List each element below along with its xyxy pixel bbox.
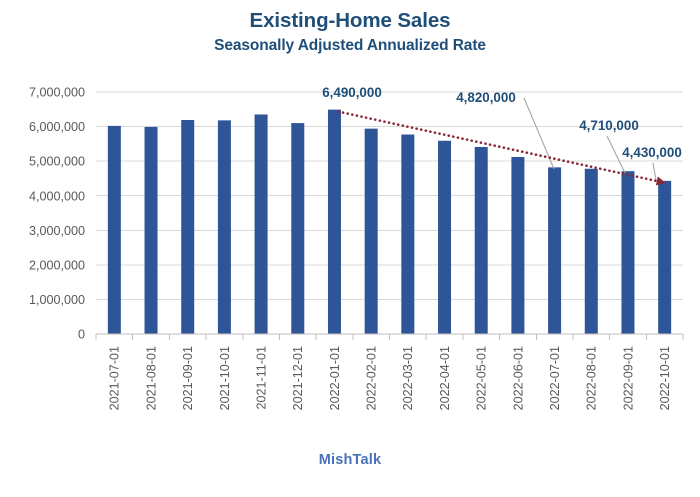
data-label-2022-10-01: 4,430,000: [622, 145, 682, 160]
xtick-label-2022-03-01: 2022-03-01: [401, 346, 415, 410]
ytick-label: 7,000,000: [29, 86, 85, 100]
bar-2022-06-01[interactable]: [511, 157, 524, 334]
data-label-2022-09-01: 4,710,000: [579, 118, 639, 133]
bar-2021-07-01[interactable]: [108, 126, 121, 334]
bar-2022-07-01[interactable]: [548, 167, 561, 334]
xtick-label-2021-09-01: 2021-09-01: [181, 346, 195, 410]
bar-2021-11-01[interactable]: [255, 114, 268, 334]
xtick-label-2022-06-01: 2022-06-01: [511, 346, 525, 410]
bar-2022-08-01[interactable]: [585, 169, 598, 334]
chart-container: Existing-Home Sales Seasonally Adjusted …: [0, 0, 700, 497]
ytick-label: 3,000,000: [29, 224, 85, 238]
xtick-label-2022-01-01: 2022-01-01: [328, 346, 342, 410]
ytick-label: 0: [78, 328, 85, 342]
bar-2021-12-01[interactable]: [291, 123, 304, 334]
ytick-label: 2,000,000: [29, 258, 85, 272]
xtick-label-2022-10-01: 2022-10-01: [658, 346, 672, 410]
bar-2022-10-01[interactable]: [658, 181, 671, 334]
xtick-label-2022-09-01: 2022-09-01: [621, 346, 635, 410]
xtick-label-2022-02-01: 2022-02-01: [365, 346, 379, 410]
xtick-label-2022-07-01: 2022-07-01: [548, 346, 562, 410]
data-label-2022-07-01: 4,820,000: [456, 90, 516, 105]
xtick-label-2021-11-01: 2021-11-01: [254, 346, 268, 410]
ytick-labels-group: 7,000,0006,000,0005,000,0004,000,0003,00…: [29, 86, 85, 342]
xtick-label-2022-05-01: 2022-05-01: [475, 346, 489, 410]
bar-2022-02-01[interactable]: [365, 129, 378, 334]
bar-2021-10-01[interactable]: [218, 120, 231, 334]
xtick-label-2021-12-01: 2021-12-01: [291, 346, 305, 410]
leader-lines-group: [524, 98, 656, 180]
ytick-label: 1,000,000: [29, 293, 85, 307]
ytick-label: 4,000,000: [29, 189, 85, 203]
data-label-2022-01-01: 6,490,000: [322, 85, 382, 100]
ytick-label: 6,000,000: [29, 120, 85, 134]
bar-2022-09-01[interactable]: [621, 171, 634, 334]
bar-2022-04-01[interactable]: [438, 141, 451, 334]
leader-line-2022-10-01: [653, 163, 656, 180]
bar-2021-09-01[interactable]: [181, 120, 194, 334]
ytick-label: 5,000,000: [29, 155, 85, 169]
axis-group: [96, 334, 683, 340]
bar-chart-plot: 7,000,0006,000,0005,000,0004,000,0003,00…: [0, 0, 700, 497]
xtick-label-2021-10-01: 2021-10-01: [218, 346, 232, 410]
xtick-label-2022-08-01: 2022-08-01: [585, 346, 599, 410]
bar-2022-05-01[interactable]: [475, 147, 488, 334]
bar-2022-03-01[interactable]: [401, 135, 414, 334]
xtick-label-2021-07-01: 2021-07-01: [108, 346, 122, 410]
footer-brand: MishTalk: [0, 452, 700, 468]
xtick-label-2022-04-01: 2022-04-01: [438, 346, 452, 410]
xtick-label-2021-08-01: 2021-08-01: [144, 346, 158, 410]
bar-2022-01-01[interactable]: [328, 110, 341, 334]
bar-2021-08-01[interactable]: [145, 127, 158, 334]
xtick-labels-group: 2021-07-012021-08-012021-09-012021-10-01…: [108, 346, 672, 410]
bars-group: [108, 110, 671, 334]
